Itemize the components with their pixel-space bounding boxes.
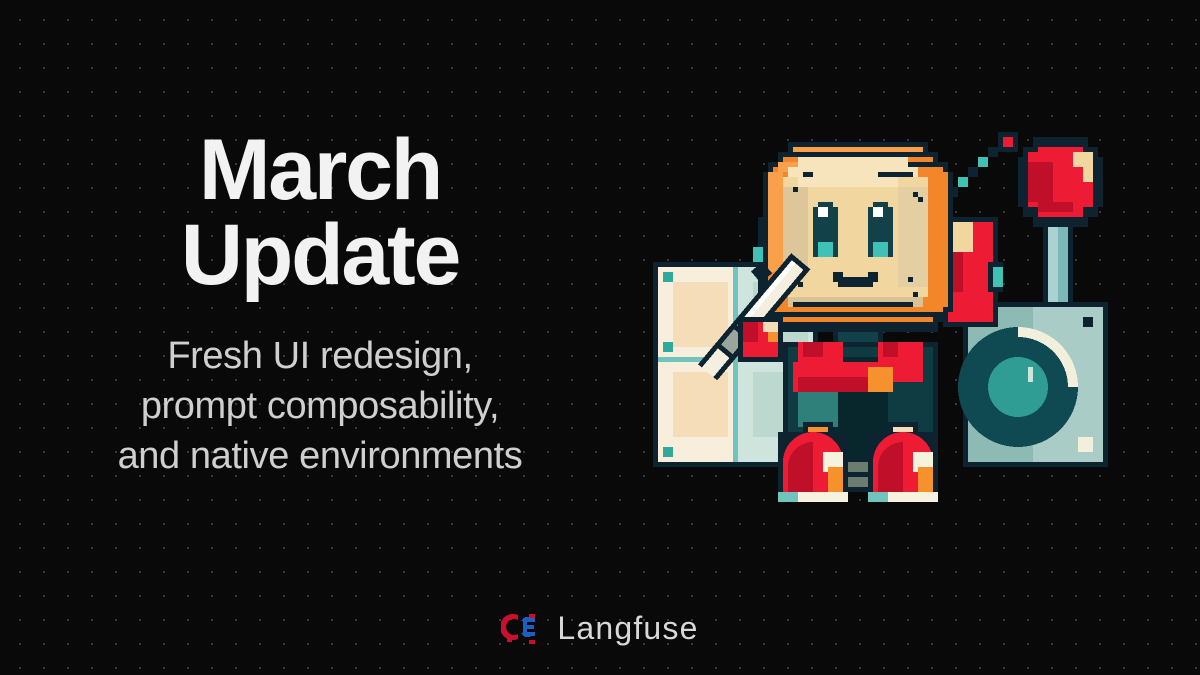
langfuse-logo-icon <box>501 612 543 646</box>
balloon-on-stick-icon <box>1018 137 1103 307</box>
robot-head-icon <box>763 142 953 332</box>
brand-name: Langfuse <box>557 610 698 647</box>
antenna-icon <box>948 132 1018 197</box>
page-subtitle: Fresh UI redesign, prompt composability,… <box>118 332 523 481</box>
page-title: March Update <box>181 128 459 298</box>
text-block: March Update Fresh UI redesign, prompt c… <box>0 128 640 482</box>
pixel-art-robot-illustration <box>648 112 1118 512</box>
brand-footer: Langfuse <box>0 610 1200 647</box>
robot-hand-left-icon <box>738 317 783 362</box>
poster-canvas: March Update Fresh UI redesign, prompt c… <box>0 0 1200 675</box>
